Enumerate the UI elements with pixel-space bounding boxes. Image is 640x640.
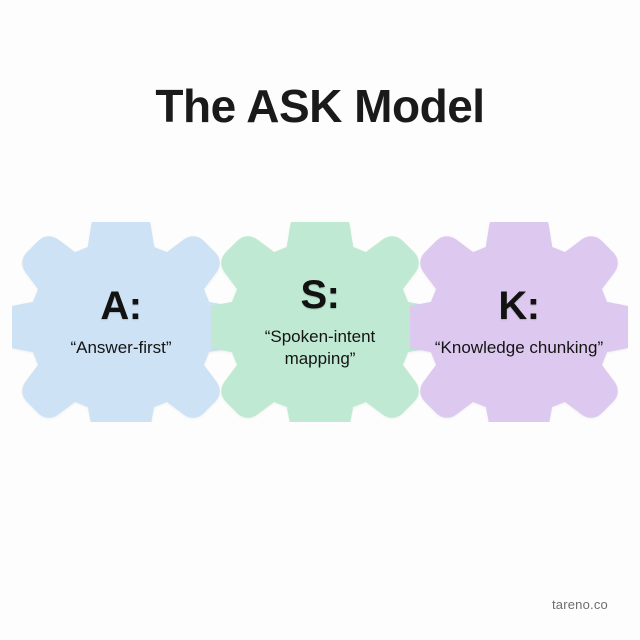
gear-letter-a: A: — [100, 286, 141, 326]
gear-phrase-k: “Knowledge chunking” — [435, 337, 603, 359]
gear-text-s: S: “Spoken-intent mapping” — [211, 222, 429, 422]
gear-card-knowledge-chunking[interactable]: K: “Knowledge chunking” — [410, 222, 628, 422]
gear-text-k: K: “Knowledge chunking” — [410, 222, 628, 422]
page-title: The ASK Model — [0, 82, 640, 130]
gear-letter-k: K: — [498, 286, 539, 326]
gear-card-spoken-intent-mapping[interactable]: S: “Spoken-intent mapping” — [211, 222, 429, 422]
watermark: tareno.co — [552, 597, 608, 612]
gear-text-a: A: “Answer-first” — [12, 222, 230, 422]
gear-letter-s: S: — [301, 275, 340, 315]
gear-phrase-a: “Answer-first” — [70, 337, 171, 359]
infographic-canvas: The ASK Model A: “Answer-first” S: “Spok… — [0, 0, 640, 640]
gear-phrase-s: “Spoken-intent mapping” — [230, 326, 410, 370]
gear-card-answer-first[interactable]: A: “Answer-first” — [12, 222, 230, 422]
